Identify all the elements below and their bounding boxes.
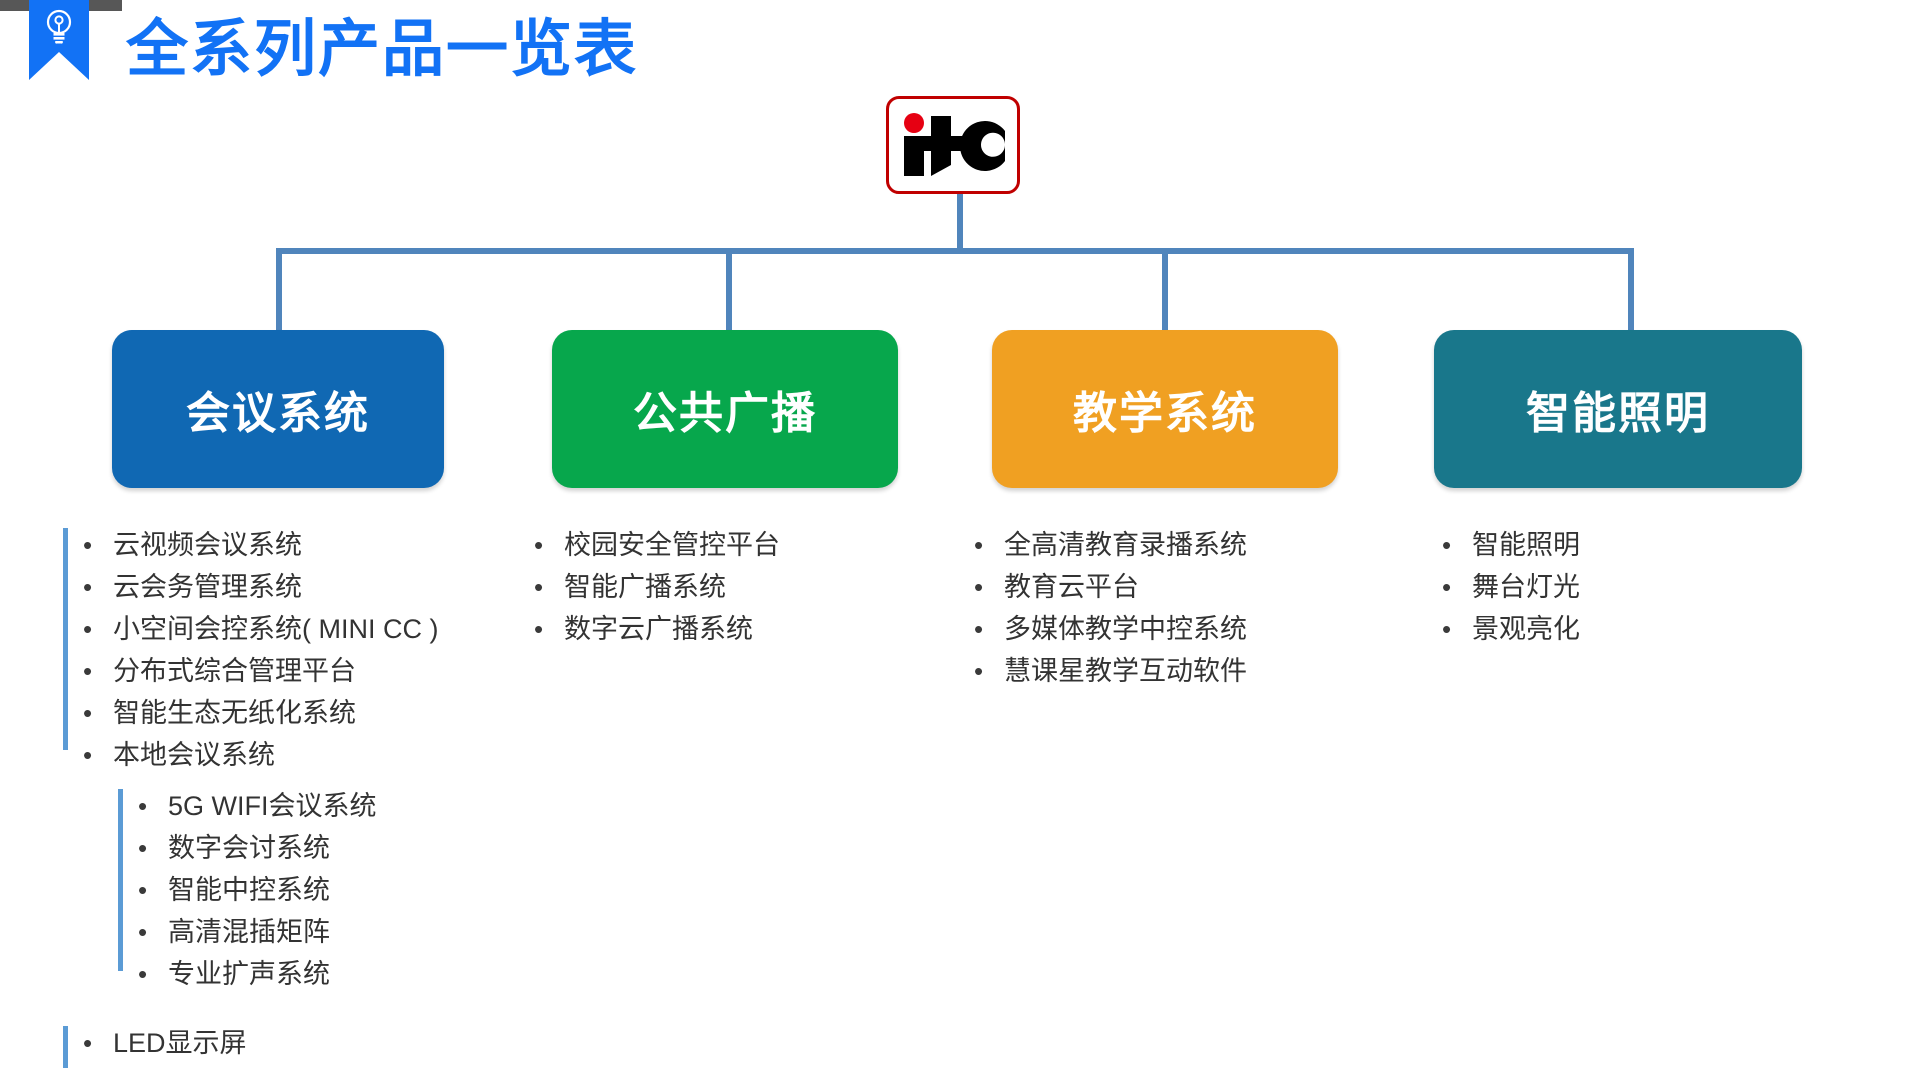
list-item-label: 景观亮化: [1472, 608, 1580, 650]
list-item-label: 智能中控系统: [168, 869, 330, 911]
list-item-label: 舞台灯光: [1472, 566, 1580, 608]
list-item[interactable]: • 智能广播系统: [516, 566, 780, 608]
list-item[interactable]: • 数字云广播系统: [516, 608, 780, 650]
list-item[interactable]: • 教育云平台: [956, 566, 1247, 608]
list-item-label: 智能广播系统: [564, 566, 726, 608]
connector-drop-1: [276, 250, 282, 332]
list-accent-bar: [63, 1026, 68, 1068]
bullet-icon: •: [1442, 608, 1472, 650]
itc-logo-icon: [901, 112, 1005, 178]
itc-logo-node: [886, 96, 1020, 194]
list-item[interactable]: • 多媒体教学中控系统: [956, 608, 1247, 650]
connector-stem: [957, 194, 963, 250]
list-item-label: 5G WIFI会议系统: [168, 785, 377, 827]
list-item[interactable]: • 专业扩声系统: [118, 953, 377, 995]
bullet-icon: •: [138, 869, 168, 911]
list-item-label: 云会务管理系统: [113, 566, 302, 608]
lightbulb-icon: [42, 8, 76, 46]
category-box-lighting[interactable]: 智能照明: [1434, 330, 1802, 488]
list-item[interactable]: • 慧课星教学互动软件: [956, 650, 1247, 692]
category-label: 教学系统: [1073, 377, 1257, 441]
list-item-label: 教育云平台: [1004, 566, 1139, 608]
list-item[interactable]: • 校园安全管控平台: [516, 524, 780, 566]
bullet-icon: •: [1442, 524, 1472, 566]
page-title: 全系列产品一览表: [126, 13, 638, 87]
list-item-label: 数字会讨系统: [168, 827, 330, 869]
list-item[interactable]: • 云会务管理系统: [63, 566, 438, 608]
list-item[interactable]: • 小空间会控系统( MINI CC ): [63, 608, 438, 650]
connector-horizontal: [276, 248, 1634, 254]
category-box-education[interactable]: 教学系统: [992, 330, 1338, 488]
bullet-icon: •: [534, 524, 564, 566]
list-item-label: 高清混插矩阵: [168, 911, 330, 953]
bullet-icon: •: [83, 650, 113, 692]
bullet-icon: •: [83, 1022, 113, 1064]
list-item-label: 慧课星教学互动软件: [1004, 650, 1247, 692]
list-item-label: 全高清教育录播系统: [1004, 524, 1247, 566]
bullet-icon: •: [974, 524, 1004, 566]
bullet-icon: •: [138, 953, 168, 995]
list-item[interactable]: • 景观亮化: [1424, 608, 1580, 650]
bullet-icon: •: [974, 566, 1004, 608]
category-label: 智能照明: [1526, 377, 1710, 441]
list-lighting: • 智能照明 • 舞台灯光 • 景观亮化: [1424, 524, 1580, 650]
list-item-label: 智能照明: [1472, 524, 1580, 566]
list-item-label: 数字云广播系统: [564, 608, 753, 650]
category-box-public-address[interactable]: 公共广播: [552, 330, 898, 488]
list-item-label: 小空间会控系统( MINI CC ): [113, 608, 438, 650]
list-item[interactable]: • 5G WIFI会议系统: [118, 785, 377, 827]
list-item-label: 分布式综合管理平台: [113, 650, 356, 692]
list-conference-extra: • LED显示屏: [63, 1022, 247, 1064]
list-conference: • 云视频会议系统 • 云会务管理系统 • 小空间会控系统( MINI CC )…: [63, 524, 438, 776]
bullet-icon: •: [83, 692, 113, 734]
list-item[interactable]: • 分布式综合管理平台: [63, 650, 438, 692]
list-item-label: 本地会议系统: [113, 734, 275, 776]
connector-drop-3: [1162, 250, 1168, 332]
bullet-icon: •: [83, 734, 113, 776]
pin-marker: [29, 0, 89, 80]
list-item-label: 智能生态无纸化系统: [113, 692, 356, 734]
bullet-icon: •: [138, 785, 168, 827]
list-item[interactable]: • 数字会讨系统: [118, 827, 377, 869]
list-public-address: • 校园安全管控平台 • 智能广播系统 • 数字云广播系统: [516, 524, 780, 650]
list-item[interactable]: • 智能照明: [1424, 524, 1580, 566]
bullet-icon: •: [83, 524, 113, 566]
list-conference-sub: • 5G WIFI会议系统 • 数字会讨系统 • 智能中控系统 • 高清混插矩阵…: [118, 785, 377, 995]
list-accent-bar: [63, 528, 68, 750]
list-item[interactable]: • 高清混插矩阵: [118, 911, 377, 953]
list-item-label: 专业扩声系统: [168, 953, 330, 995]
bullet-icon: •: [138, 827, 168, 869]
category-label: 会议系统: [186, 377, 370, 441]
list-item[interactable]: • 全高清教育录播系统: [956, 524, 1247, 566]
list-education: • 全高清教育录播系统 • 教育云平台 • 多媒体教学中控系统 • 慧课星教学互…: [956, 524, 1247, 692]
category-box-conference[interactable]: 会议系统: [112, 330, 444, 488]
list-item[interactable]: • 智能生态无纸化系统: [63, 692, 438, 734]
bullet-icon: •: [534, 608, 564, 650]
list-item[interactable]: • 智能中控系统: [118, 869, 377, 911]
list-item-label: 云视频会议系统: [113, 524, 302, 566]
list-accent-bar: [118, 789, 123, 971]
list-item-label: LED显示屏: [113, 1022, 247, 1064]
bullet-icon: •: [1442, 566, 1472, 608]
list-item-label: 校园安全管控平台: [564, 524, 780, 566]
pin-point: [29, 52, 89, 80]
bullet-icon: •: [534, 566, 564, 608]
list-item[interactable]: • LED显示屏: [63, 1022, 247, 1064]
connector-drop-2: [726, 250, 732, 332]
bullet-icon: •: [83, 608, 113, 650]
category-label: 公共广播: [633, 377, 817, 441]
list-item-label: 多媒体教学中控系统: [1004, 608, 1247, 650]
bullet-icon: •: [138, 911, 168, 953]
bullet-icon: •: [974, 650, 1004, 692]
list-item[interactable]: • 本地会议系统: [63, 734, 438, 776]
list-item[interactable]: • 云视频会议系统: [63, 524, 438, 566]
bullet-icon: •: [974, 608, 1004, 650]
bullet-icon: •: [83, 566, 113, 608]
list-item[interactable]: • 舞台灯光: [1424, 566, 1580, 608]
product-overview-slide: 全系列产品一览表 会议系统 公共广播 教学系统 智能照明 • 云视频会议系统 •: [0, 0, 1920, 1080]
connector-drop-4: [1628, 250, 1634, 332]
